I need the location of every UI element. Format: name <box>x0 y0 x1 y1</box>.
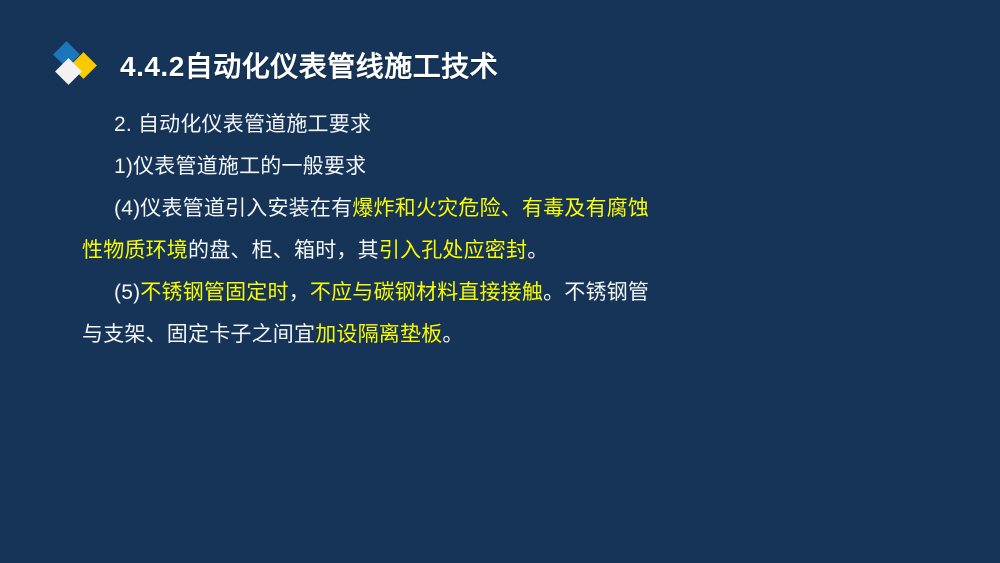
body-line-4: 性物质环境的盘、柜、箱时，其引入孔处应密封。 <box>82 230 722 272</box>
body-line-5: (5)不锈钢管固定时，不应与碳钢材料直接接触。不锈钢管 <box>82 272 722 314</box>
body-line-3: (4)仪表管道引入安装在有爆炸和火灾危险、有毒及有腐蚀 <box>82 188 722 230</box>
plain-text: 与支架、固定卡子之间宜 <box>82 323 315 346</box>
plain-text: 。 <box>527 239 548 262</box>
plain-text: 。 <box>442 323 463 346</box>
body-line-6: 与支架、固定卡子之间宜加设隔离垫板。 <box>82 314 722 356</box>
slide-canvas: 4.4.2自动化仪表管线施工技术 2. 自动化仪表管道施工要求1)仪表管道施工的… <box>0 0 1000 563</box>
body-line-2: 1)仪表管道施工的一般要求 <box>82 146 722 188</box>
plain-text: (5) <box>114 281 140 304</box>
plain-text: (4)仪表管道引入安装在有 <box>114 197 352 220</box>
body-line-1: 2. 自动化仪表管道施工要求 <box>82 104 722 146</box>
highlighted-text: 不应与碳钢材料直接接触 <box>310 281 543 304</box>
plain-text: 2. 自动化仪表管道施工要求 <box>114 113 371 136</box>
page-title-text: 4.4.2自动化仪表管线施工技术 <box>120 45 498 85</box>
highlighted-text: 爆炸和火灾危险、有毒及有腐蚀 <box>352 197 649 220</box>
highlighted-text: 引入孔处应密封 <box>379 239 527 262</box>
plain-text: 1)仪表管道施工的一般要求 <box>114 155 366 178</box>
highlighted-text: 性物质环境 <box>82 239 188 262</box>
plain-text: ， <box>289 281 310 304</box>
highlighted-text: 加设隔离垫板 <box>315 323 442 346</box>
body-text-block: 2. 自动化仪表管道施工要求1)仪表管道施工的一般要求(4)仪表管道引入安装在有… <box>82 104 722 356</box>
plain-text: 。不锈钢管 <box>543 281 649 304</box>
tri-diamond-logo <box>52 40 104 92</box>
tri-diamond-logo-svg <box>52 40 104 92</box>
plain-text: 的盘、柜、箱时，其 <box>188 239 379 262</box>
highlighted-text: 不锈钢管固定时 <box>140 281 288 304</box>
page-title: 4.4.2自动化仪表管线施工技术 <box>120 44 498 86</box>
